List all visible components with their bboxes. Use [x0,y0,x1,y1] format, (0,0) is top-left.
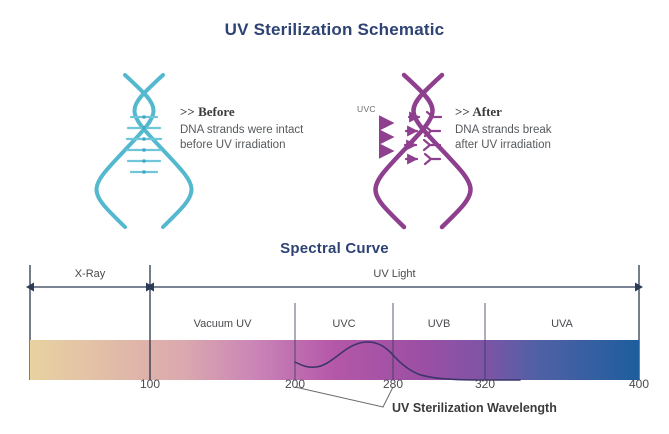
range-label-x-ray: X-Ray [30,268,150,280]
band-label-uvc: UVC [295,318,393,330]
after-line-1: DNA strands break [455,123,552,138]
dna-schematic [0,55,669,255]
tick-label-200: 200 [265,377,325,391]
page-title: UV Sterilization Schematic [0,20,669,40]
section-title: Spectral Curve [0,240,669,257]
spectrum-chart [0,265,669,425]
before-line-2: before UV irradiation [180,138,303,153]
band-label-vacuum-uv: Vacuum UV [150,318,295,330]
tick-label-400: 400 [609,377,669,391]
range-label-uv-light: UV Light [150,268,639,280]
after-marker: >> After [455,104,552,120]
dna-helix-before [97,75,192,227]
tick-label-280: 280 [363,377,423,391]
after-line-2: after UV irradiation [455,138,552,153]
uvc-beam-label: UVC [357,104,376,114]
tick-label-320: 320 [455,377,515,391]
tick-label-100: 100 [120,377,180,391]
uvc-beam-arrows [352,123,392,151]
before-marker: >> Before [180,104,303,120]
after-caption: >> After DNA strands break after UV irra… [455,104,552,153]
band-label-uvb: UVB [393,318,485,330]
before-caption: >> Before DNA strands were intact before… [180,104,303,153]
before-line-1: DNA strands were intact [180,123,303,138]
spectrum-gradient-bar [30,340,639,380]
poster-canvas: UV Sterilization Schematic [0,0,669,434]
band-label-uva: UVA [485,318,639,330]
sterilization-wavelength-annotation: UV Sterilization Wavelength [392,401,557,415]
